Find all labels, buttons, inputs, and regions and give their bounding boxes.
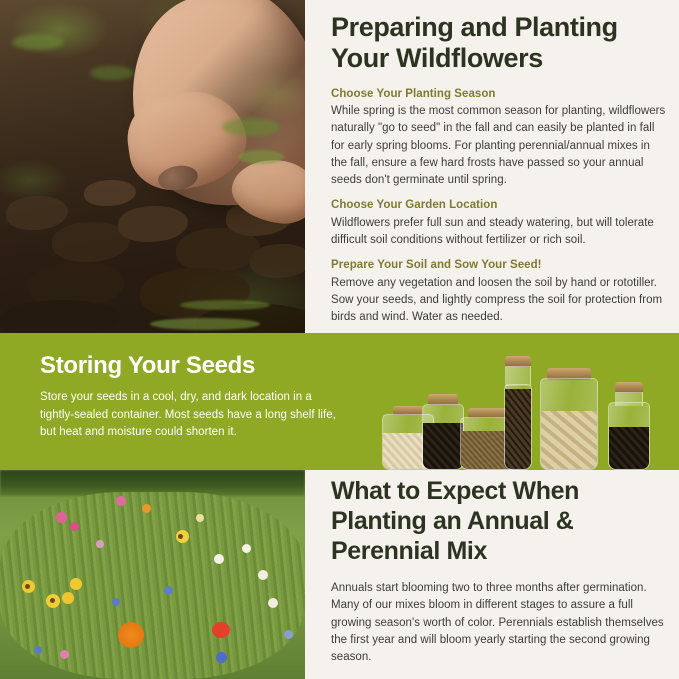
- expect-heading: What to Expect When Planting an Annual &…: [331, 476, 669, 566]
- seed-jar-5: [540, 368, 598, 470]
- seed-jar-4: [504, 356, 532, 470]
- subheading-prepare-soil: Prepare Your Soil and Sow Your Seed!: [331, 258, 669, 272]
- expect-text-column: What to Expect When Planting an Annual &…: [331, 476, 679, 679]
- preparing-text-column: Preparing and Planting Your Wildflowers …: [331, 0, 679, 333]
- infographic-page: Preparing and Planting Your Wildflowers …: [0, 0, 679, 679]
- storing-body: Store your seeds in a cool, dry, and dar…: [40, 389, 340, 441]
- hand-sowing-seeds-image: [0, 0, 305, 333]
- subheading-planting-season: Choose Your Planting Season: [331, 87, 669, 101]
- subheading-garden-location: Choose Your Garden Location: [331, 198, 669, 212]
- seed-jar-2: [422, 394, 464, 470]
- storing-text-column: Storing Your Seeds Store your seeds in a…: [40, 353, 340, 441]
- body-planting-season: While spring is the most common season f…: [331, 103, 669, 189]
- block-planting-season: Choose Your Planting Season While spring…: [331, 87, 669, 190]
- page-title: Preparing and Planting Your Wildflowers: [331, 12, 669, 75]
- expect-body: Annuals start blooming two to three mont…: [331, 580, 669, 666]
- body-prepare-soil: Remove any vegetation and loosen the soi…: [331, 275, 669, 327]
- section-what-to-expect: What to Expect When Planting an Annual &…: [0, 470, 679, 679]
- block-prepare-soil: Prepare Your Soil and Sow Your Seed! Rem…: [331, 258, 669, 326]
- seed-jars-image: [382, 348, 672, 470]
- block-garden-location: Choose Your Garden Location Wildflowers …: [331, 198, 669, 249]
- storing-heading: Storing Your Seeds: [40, 353, 340, 379]
- seed-jar-6: [608, 382, 650, 470]
- section-preparing-and-planting: Preparing and Planting Your Wildflowers …: [0, 0, 679, 333]
- wildflower-meadow-image: [0, 470, 305, 679]
- body-garden-location: Wildflowers prefer full sun and steady w…: [331, 215, 669, 250]
